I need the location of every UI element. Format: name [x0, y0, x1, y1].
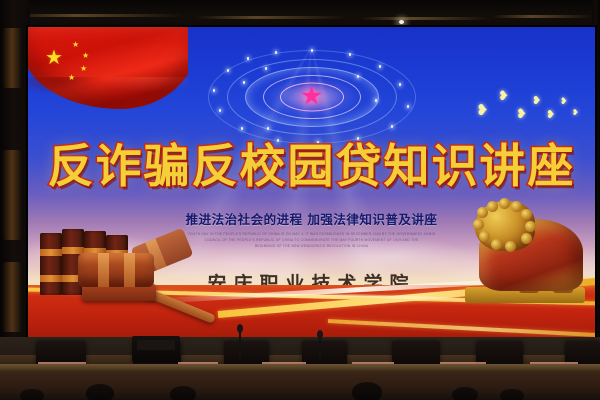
- audience-head: [500, 389, 524, 400]
- gavel-and-law-books: [38, 215, 218, 307]
- prc-flag: ★ ★ ★ ★ ★: [28, 27, 188, 122]
- flag-small-star-icon: ★: [82, 52, 89, 59]
- guardian-lion-statue: [459, 198, 589, 303]
- dove-icon: ❥: [572, 107, 579, 118]
- audience-head: [86, 384, 114, 400]
- dove-icon: ❥: [476, 105, 489, 116]
- ceiling: [0, 0, 600, 30]
- audience-head: [170, 386, 196, 400]
- audience-head: [452, 387, 478, 400]
- flag-small-star-icon: ★: [72, 41, 79, 48]
- banner-title: 反诈骗反校园贷知识讲座: [28, 130, 595, 196]
- microphone-stand: [319, 336, 321, 361]
- flag-large-star-icon: ★: [45, 49, 63, 65]
- flag-small-star-icon: ★: [68, 74, 75, 81]
- dove-icon: ❥: [498, 91, 509, 102]
- stage-chair: [392, 341, 440, 365]
- presenter-laptop: [132, 336, 180, 362]
- dove-icon: ❥: [546, 109, 555, 120]
- led-display-screen: ★ ★ ★ ★: [28, 27, 595, 337]
- microphone-head-icon: [317, 330, 323, 339]
- ceiling-light: [399, 20, 404, 24]
- emblem-star-icon: ★: [300, 87, 323, 107]
- lion-head: [475, 201, 535, 251]
- law-book: [40, 233, 62, 295]
- auditorium-room: ★ ★ ★ ★: [0, 0, 600, 400]
- audience-head: [20, 389, 44, 400]
- stage-chair: [302, 341, 347, 365]
- microphone-stand: [239, 330, 241, 360]
- dove-icon: ❥: [516, 109, 527, 120]
- microphone-head-icon: [237, 324, 243, 333]
- audience-head: [352, 382, 382, 400]
- dove-icon: ❥: [532, 95, 541, 106]
- dove-icon: ❥: [560, 97, 568, 108]
- flag-small-star-icon: ★: [80, 65, 87, 72]
- gavel-head: [78, 253, 154, 287]
